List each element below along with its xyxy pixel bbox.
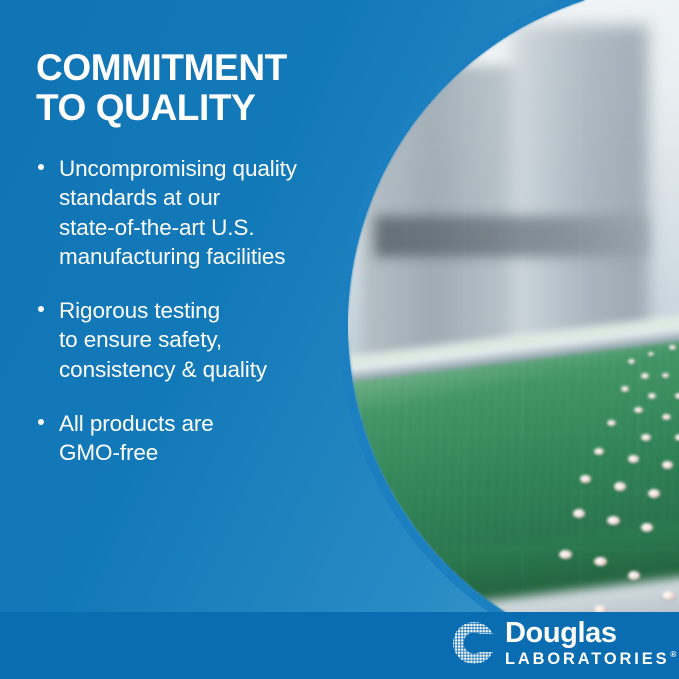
logo-subtitle: LABORATORIES [505, 651, 669, 667]
list-item: Rigorous testing to ensure safety, consi… [36, 296, 341, 384]
list-item: All products are GMO-free [36, 409, 341, 468]
bullet-dot-icon [38, 419, 44, 425]
logo-subtitle-wrap: LABORATORIES ® [505, 651, 676, 667]
photo-clip [348, 0, 679, 666]
grid-c-mark-icon [452, 621, 496, 665]
bullet-line: GMO-free [59, 438, 341, 467]
bullet-line: standards at our [59, 183, 341, 212]
bullet-line: consistency & quality [59, 355, 341, 384]
brand-logo: Douglas LABORATORIES ® [452, 620, 676, 667]
page-title: COMMITMENT TO QUALITY [36, 48, 348, 127]
benefits-list: Uncompromising quality standards at our … [36, 154, 360, 467]
logo-wordmark: Douglas LABORATORIES ® [505, 620, 676, 667]
bullet-line: Uncompromising quality [59, 154, 341, 183]
bullet-line: state-of-the-art U.S. [59, 213, 341, 242]
logo-name: Douglas [505, 620, 676, 648]
bullet-line: Rigorous testing [59, 296, 341, 325]
bullet-dot-icon [38, 164, 44, 170]
bullet-dot-icon [38, 306, 44, 312]
page-title-line-2: TO QUALITY [36, 88, 348, 128]
footer-sweep-line [0, 612, 679, 615]
registered-mark-icon: ® [670, 651, 676, 659]
photo-depth-haze [348, 0, 679, 666]
bullet-line: manufacturing facilities [59, 242, 341, 271]
page-title-line-1: COMMITMENT [36, 47, 287, 88]
bullet-line: to ensure safety, [59, 325, 341, 354]
bullet-line: All products are [59, 409, 341, 438]
manufacturing-photo [339, 0, 679, 675]
list-item: Uncompromising quality standards at our … [36, 154, 341, 271]
commitment-to-quality-poster: COMMITMENT TO QUALITY Uncompromising qua… [0, 0, 679, 679]
content-column: COMMITMENT TO QUALITY Uncompromising qua… [0, 0, 360, 612]
